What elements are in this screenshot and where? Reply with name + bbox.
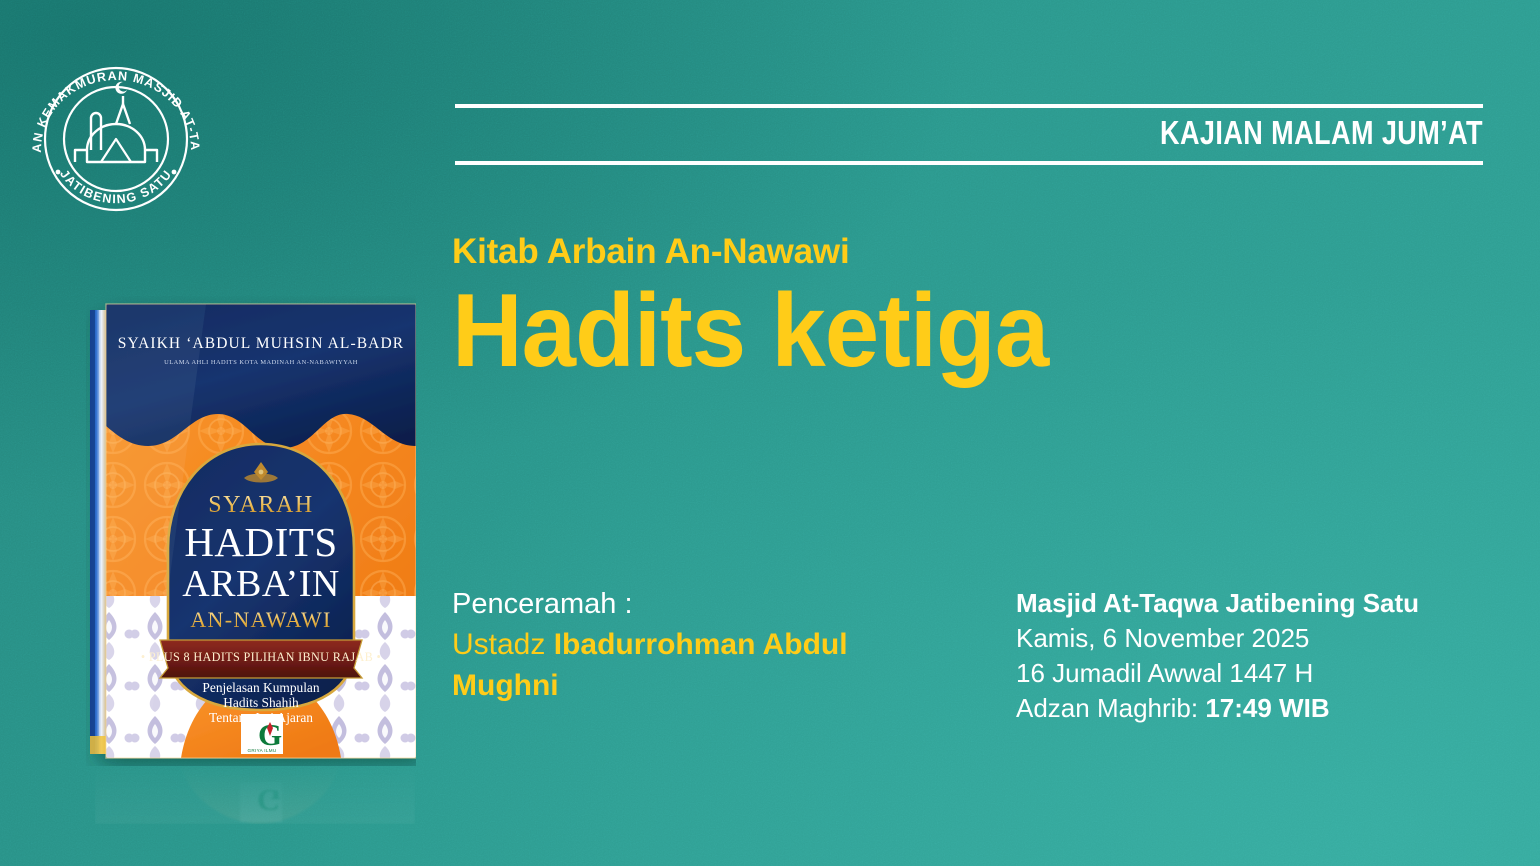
book-title-syarah: SYARAH	[208, 492, 314, 518]
venue-maghrib: Adzan Maghrib: 17:49 WIB	[1016, 691, 1516, 726]
venue-date-hijri: 16 Jumadil Awwal 1447 H	[1016, 656, 1516, 691]
svg-text:Hadits Shahih: Hadits Shahih	[223, 695, 299, 710]
mosque-icon	[75, 82, 157, 162]
maghrib-time: 17:49 WIB	[1205, 693, 1329, 723]
book-title-hadits: HADITS	[184, 519, 337, 565]
page-title: Hadits ketiga	[452, 281, 1048, 381]
book-banner-text: • PLUS 8 HADITS PILIHAN IBNU RAJAB •	[141, 650, 381, 664]
book-banner: • PLUS 8 HADITS PILIHAN IBNU RAJAB •	[141, 640, 381, 678]
svg-text:Penjelasan Kumpulan: Penjelasan Kumpulan	[202, 680, 319, 695]
speaker-block: Penceramah : Ustadz Ibadurrohman Abdul M…	[452, 584, 932, 706]
book-cover-image: SYAIKH ‘ABDUL MUHSIN AL-BADR ULAMA AHLI …	[86, 296, 416, 766]
book-title-annawawi: AN-NAWAWI	[190, 607, 331, 632]
kitab-subtitle: Kitab Arbain An-Nawawi	[452, 232, 850, 272]
speaker-prefix: Ustadz	[452, 628, 554, 661]
organization-logo: DEWAN KEMAKMURAN MASJID AT-TAQWA JATIBEN…	[27, 66, 205, 212]
header-kicker: KAJIAN MALAM JUM’AT	[640, 113, 1483, 153]
publisher-name: GRIYA ILMU	[248, 748, 277, 753]
publisher-logo: G GRIYA ILMU	[241, 714, 283, 754]
venue-place: Masjid At-Taqwa Jatibening Satu	[1016, 586, 1516, 621]
book-title-arbain: ARBA’IN	[182, 563, 340, 605]
book-reflection: G	[95, 762, 415, 824]
book-front-cover: SYAIKH ‘ABDUL MUHSIN AL-BADR ULAMA AHLI …	[106, 304, 416, 758]
logo-dot-right	[172, 170, 177, 175]
maghrib-label: Adzan Maghrib:	[1016, 693, 1205, 723]
svg-text:G: G	[257, 783, 281, 818]
venue-date-gregorian: Kamis, 6 November 2025	[1016, 621, 1516, 656]
header-rule-bottom	[455, 161, 1483, 165]
speaker-label: Penceramah :	[452, 584, 932, 624]
logo-arc-bottom-text: JATIBENING SATU	[57, 167, 175, 206]
poster-canvas: DEWAN KEMAKMURAN MASJID AT-TAQWA JATIBEN…	[0, 0, 1540, 866]
venue-block: Masjid At-Taqwa Jatibening Satu Kamis, 6…	[1016, 586, 1516, 726]
header-rule-top	[455, 104, 1483, 108]
logo-dot-left	[56, 170, 61, 175]
speaker-name: Ustadz Ibadurrohman Abdul Mughni	[452, 624, 932, 706]
